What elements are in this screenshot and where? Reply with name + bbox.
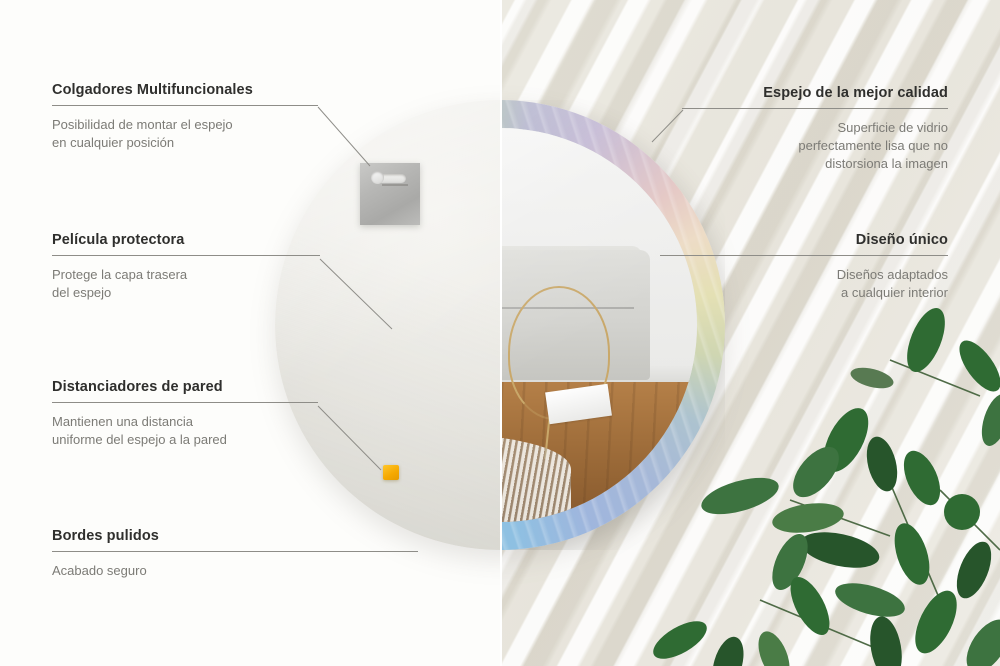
callout-distanciadores: Distanciadores de pared Mantienen una di… <box>52 379 318 449</box>
callout-description: Mantienen una distancia uniforme del esp… <box>52 413 318 449</box>
callout-bordes: Bordes pulidos Acabado seguro <box>52 528 418 580</box>
panel-divider <box>500 0 502 666</box>
foliage-decoration <box>640 300 1000 666</box>
callout-description: Protege la capa trasera del espejo <box>52 266 320 302</box>
callout-rule <box>682 108 948 109</box>
callout-rule <box>660 255 948 256</box>
callout-diseno: Diseño único Diseños adaptados a cualqui… <box>660 232 948 302</box>
hanger-plate <box>360 163 420 225</box>
callout-description: Diseños adaptados a cualquier interior <box>660 266 948 302</box>
callout-title: Distanciadores de pared <box>52 379 318 395</box>
hanger-slot-shadow <box>382 184 408 186</box>
callout-title: Diseño único <box>660 232 948 248</box>
callout-rule <box>52 402 318 403</box>
yellow-spacer <box>383 465 399 480</box>
callout-description: Posibilidad de montar el espejo en cualq… <box>52 116 318 152</box>
callout-title: Colgadores Multifuncionales <box>52 82 318 98</box>
hanger-keyhole-round <box>371 171 384 184</box>
callout-calidad: Espejo de la mejor calidad Superficie de… <box>682 85 948 173</box>
callout-pelicula: Película protectora Protege la capa tras… <box>52 232 320 302</box>
callout-description: Superficie de vidrio perfectamente lisa … <box>682 119 948 173</box>
infographic-canvas: Colgadores Multifuncionales Posibilidad … <box>0 0 1000 666</box>
callout-title: Bordes pulidos <box>52 528 418 544</box>
callout-rule <box>52 255 320 256</box>
callout-description: Acabado seguro <box>52 562 418 580</box>
callout-title: Película protectora <box>52 232 320 248</box>
callout-colgadores: Colgadores Multifuncionales Posibilidad … <box>52 82 318 152</box>
callout-rule <box>52 105 318 106</box>
callout-title: Espejo de la mejor calidad <box>682 85 948 101</box>
callout-rule <box>52 551 418 552</box>
